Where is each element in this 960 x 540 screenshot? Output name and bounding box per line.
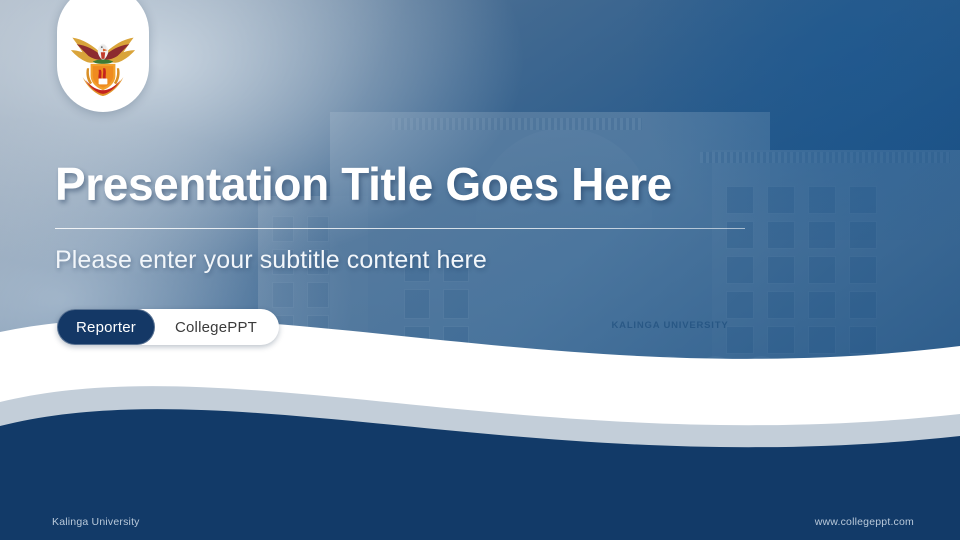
slide-subtitle[interactable]: Please enter your subtitle content here (55, 246, 487, 275)
footer-university-name: Kalinga University (52, 516, 140, 528)
reporter-value[interactable]: CollegePPT (155, 309, 279, 345)
slide-title[interactable]: Presentation Title Goes Here (55, 160, 835, 210)
presentation-slide: KALINGA UNIVERSITY (0, 0, 960, 540)
reporter-label: Reporter (57, 309, 155, 345)
university-logo-tab (57, 0, 149, 112)
title-divider (55, 228, 745, 229)
footer-website-url[interactable]: www.collegeppt.com (815, 516, 914, 528)
kalinga-university-eagle-crest-icon (66, 26, 140, 96)
reporter-pill[interactable]: Reporter CollegePPT (57, 309, 279, 345)
